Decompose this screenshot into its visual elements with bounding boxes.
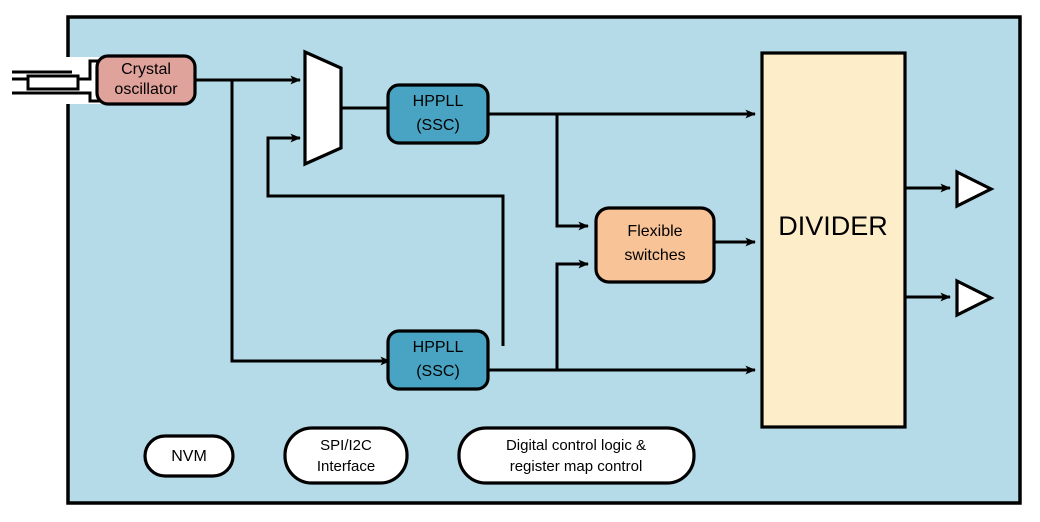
hppll-bottom-label-line2: (SSC) bbox=[416, 363, 460, 380]
digital-control-label-line1: Digital control logic & bbox=[506, 437, 646, 454]
multiplexer-block bbox=[305, 52, 341, 164]
nvm-block: NVM bbox=[145, 436, 233, 476]
diagram-svg: Crystal oscillator HPPLL (SSC) bbox=[0, 0, 1040, 522]
flexible-switches-label-line1: Flexible bbox=[627, 223, 682, 240]
hppll-bottom-label-line1: HPPLL bbox=[413, 339, 464, 356]
crystal-symbol bbox=[12, 57, 110, 104]
hppll-top-label-line1: HPPLL bbox=[413, 93, 464, 110]
spi-i2c-interface-block: SPI/I2C Interface bbox=[285, 428, 407, 483]
crystal-oscillator-label-line2: oscillator bbox=[114, 81, 178, 98]
block-diagram-canvas: Crystal oscillator HPPLL (SSC) bbox=[0, 0, 1040, 522]
hppll-ssc-top-block: HPPLL (SSC) bbox=[388, 85, 488, 143]
crystal-oscillator-block: Crystal oscillator bbox=[97, 56, 195, 104]
digital-control-logic-block: Digital control logic & register map con… bbox=[459, 428, 694, 483]
flexible-switches-block: Flexible switches bbox=[596, 208, 714, 282]
divider-block: DIVIDER bbox=[762, 53, 905, 427]
nvm-label: NVM bbox=[171, 448, 207, 465]
crystal-oscillator-label-line1: Crystal bbox=[121, 61, 171, 78]
digital-control-label-line2: register map control bbox=[510, 458, 643, 475]
spi-i2c-label-line2: Interface bbox=[317, 458, 375, 475]
hppll-top-label-line2: (SSC) bbox=[416, 117, 460, 134]
divider-label: DIVIDER bbox=[778, 211, 888, 241]
hppll-ssc-bottom-block: HPPLL (SSC) bbox=[388, 331, 488, 389]
spi-i2c-label-line1: SPI/I2C bbox=[320, 437, 372, 454]
flexible-switches-label-line2: switches bbox=[624, 247, 685, 264]
